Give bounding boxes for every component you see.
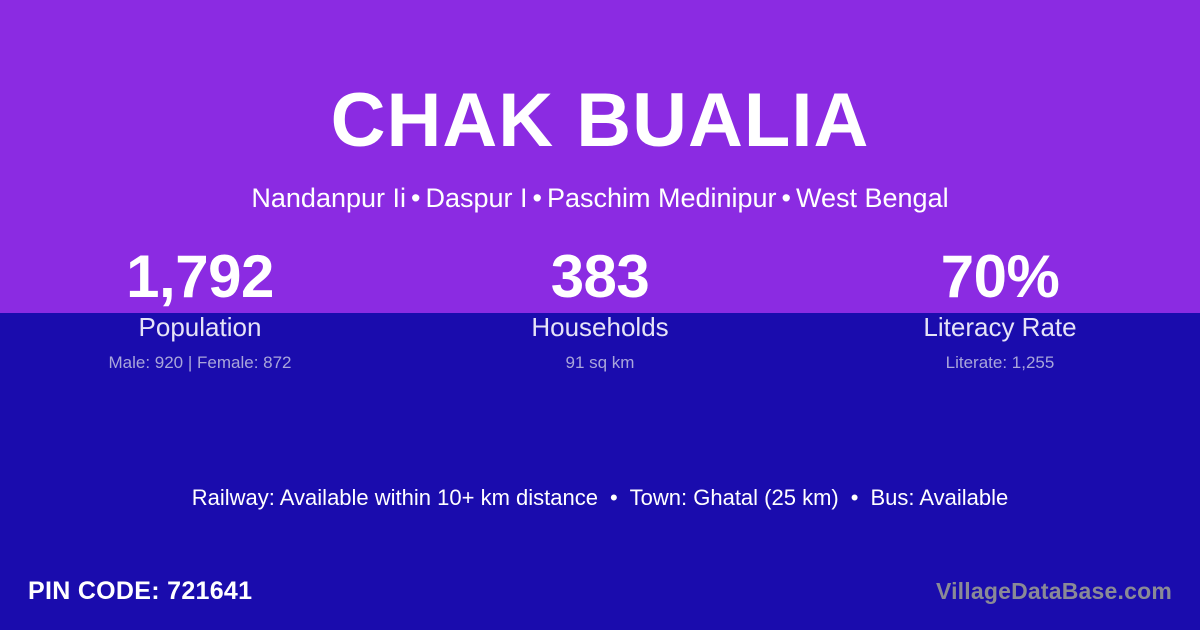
amenity-town: Town: Ghatal (25 km): [630, 485, 839, 510]
stat-literacy-rate: 70% Literacy Rate Literate: 1,255: [800, 246, 1200, 373]
amenity-separator: •: [839, 485, 871, 510]
amenities-line: Railway: Available within 10+ km distanc…: [0, 484, 1200, 513]
stat-label: Population: [0, 313, 400, 343]
breadcrumb: Nandanpur Ii•Daspur I•Paschim Medinipur•…: [0, 181, 1200, 216]
breadcrumb-separator: •: [406, 183, 425, 213]
breadcrumb-separator: •: [528, 183, 547, 213]
stat-households: 383 Households 91 sq km: [400, 246, 800, 373]
stat-value: 383: [400, 246, 800, 308]
amenity-separator: •: [598, 485, 630, 510]
stat-population: 1,792 Population Male: 920 | Female: 872: [0, 246, 400, 373]
footer: PIN CODE: 721641 VillageDataBase.com: [0, 575, 1200, 630]
amenity-bus: Bus: Available: [870, 485, 1008, 510]
stat-detail: Literate: 1,255: [800, 353, 1200, 373]
breadcrumb-part-state: West Bengal: [796, 183, 949, 213]
stat-value: 1,792: [0, 246, 400, 308]
stat-detail: Male: 920 | Female: 872: [0, 353, 400, 373]
pin-code: PIN CODE: 721641: [28, 575, 252, 608]
breadcrumb-part-district: Paschim Medinipur: [547, 183, 777, 213]
stat-detail: 91 sq km: [400, 353, 800, 373]
page-title: CHAK BUALIA: [0, 83, 1200, 159]
breadcrumb-separator: •: [777, 183, 796, 213]
stat-label: Literacy Rate: [800, 313, 1200, 343]
stat-value: 70%: [800, 246, 1200, 308]
stats-row: 1,792 Population Male: 920 | Female: 872…: [0, 246, 1200, 373]
site-watermark: VillageDataBase.com: [936, 577, 1172, 607]
stat-label: Households: [400, 313, 800, 343]
breadcrumb-part-subdistrict: Nandanpur Ii: [251, 183, 406, 213]
village-info-card: CHAK BUALIA Nandanpur Ii•Daspur I•Paschi…: [0, 0, 1200, 630]
breadcrumb-part-block: Daspur I: [425, 183, 527, 213]
amenity-railway: Railway: Available within 10+ km distanc…: [192, 485, 598, 510]
